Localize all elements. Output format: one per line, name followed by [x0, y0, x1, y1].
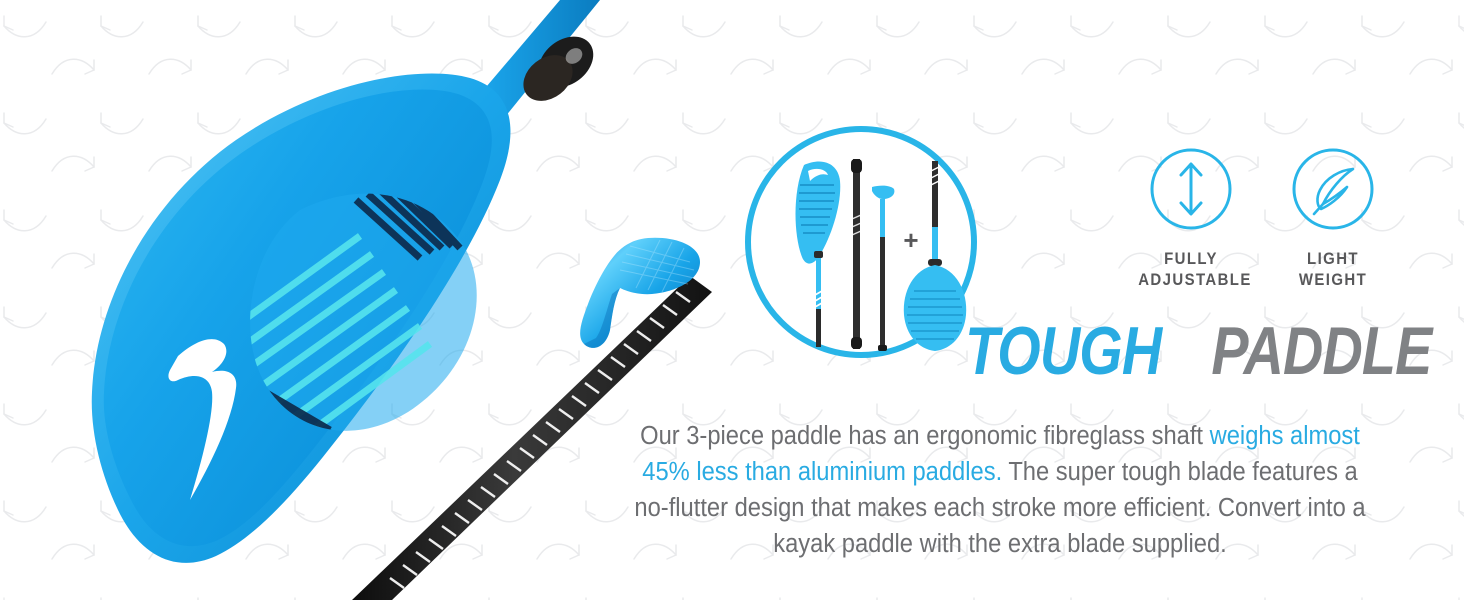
- headline-paddle: PADDLE: [1212, 312, 1432, 390]
- ferrule-collar: [514, 26, 603, 110]
- body-copy: Our 3-piece paddle has an ergonomic fibr…: [628, 418, 1372, 562]
- headline-tough: TOUGH: [965, 312, 1161, 390]
- product-banner: +: [0, 0, 1464, 600]
- feather-icon: [1290, 146, 1376, 232]
- vertical-double-arrow-icon: [1148, 146, 1234, 232]
- product-photo-left: [0, 0, 720, 600]
- page-title: TOUGHPADDLE: [0, 312, 1432, 390]
- feature-label-line1: FULLY: [1138, 248, 1244, 269]
- body-copy-lead: Our 3-piece paddle has an ergonomic fibr…: [640, 422, 1209, 450]
- feature-badges: FULLY ADJUSTABLE LIGHT WEIGHT: [1128, 146, 1396, 290]
- feature-label-line2: ADJUSTABLE: [1138, 269, 1244, 290]
- feature-label-line2: WEIGHT: [1280, 269, 1386, 290]
- feature-fully-adjustable: FULLY ADJUSTABLE: [1131, 146, 1251, 290]
- plus-symbol: +: [903, 225, 918, 255]
- blue-shaft-with-ferrule: [300, 0, 603, 330]
- feature-label-light-weight: LIGHT WEIGHT: [1280, 248, 1386, 290]
- feature-light-weight: LIGHT WEIGHT: [1273, 146, 1393, 290]
- feature-label-line1: LIGHT: [1280, 248, 1386, 269]
- feature-label-fully-adjustable: FULLY ADJUSTABLE: [1138, 248, 1244, 290]
